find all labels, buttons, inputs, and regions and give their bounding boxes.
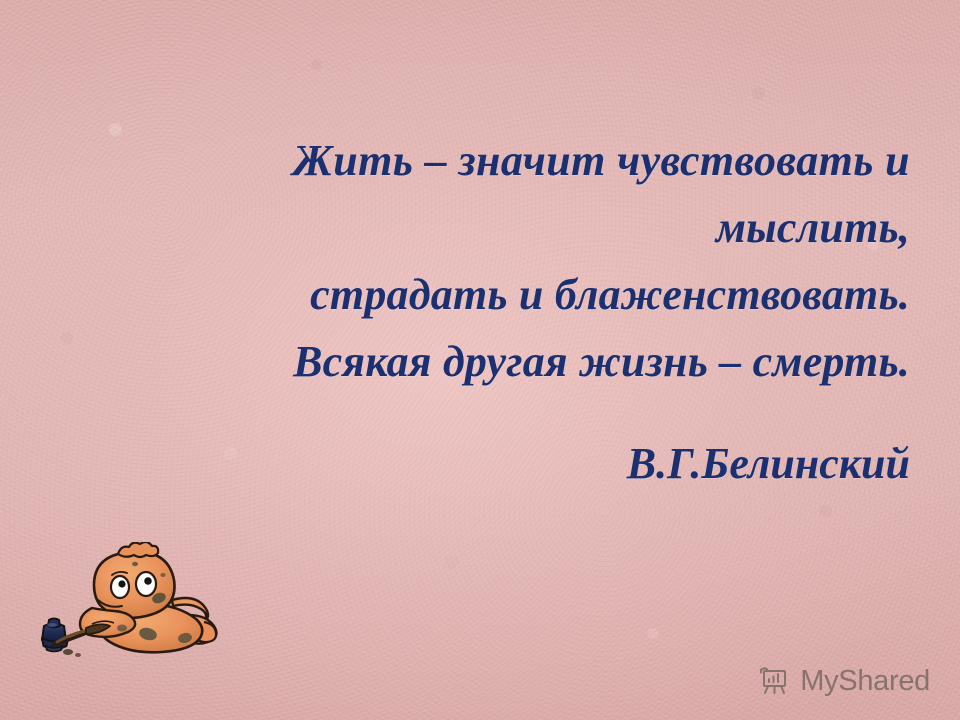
baby-with-quill-pen-illustration (22, 542, 242, 672)
inkwell-icon (42, 619, 68, 653)
quote-line-2: мыслить, (120, 195, 910, 262)
quote-text-block: Жить – значит чувствовать и мыслить, стр… (120, 128, 910, 396)
quote-line-3: страдать и блаженствовать. (120, 262, 910, 329)
quote-line-4: Всякая другая жизнь – смерть. (120, 329, 910, 396)
flipchart-bar-chart-icon (757, 664, 791, 698)
myshared-watermark: MyShared (757, 664, 930, 698)
presentation-slide: Жить – значит чувствовать и мыслить, стр… (0, 0, 960, 720)
quote-line-1: Жить – значит чувствовать и (120, 128, 910, 195)
watermark-label: MyShared (800, 667, 930, 696)
baby-head (94, 542, 175, 618)
quote-attribution: В.Г.Белинский (120, 432, 910, 496)
